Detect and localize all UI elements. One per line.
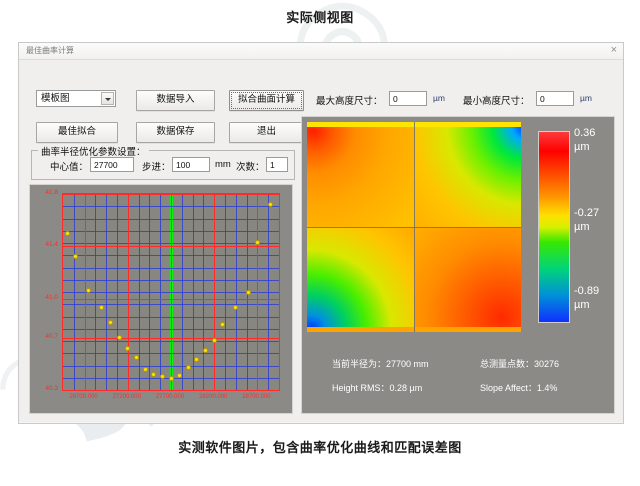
center-value-input[interactable]: 27700: [90, 157, 134, 172]
chart-gridline-major: [63, 299, 279, 300]
app-window: 最佳曲率计算 × 模板图 数据导入 拟合曲面计算 最佳拟合 数据保存 退出 最大…: [18, 42, 624, 424]
colorbar-min-unit: µm: [574, 299, 590, 311]
chart-gridline-major: [63, 246, 279, 247]
count-label: 次数：: [236, 159, 265, 173]
heatmap-quadrant-top-right: [414, 122, 521, 227]
chart-y-tick-label: 40.7: [32, 333, 58, 340]
min-height-unit: µm: [580, 93, 592, 103]
chart-data-point: [233, 305, 238, 310]
step-unit: mm: [215, 159, 231, 170]
chevron-down-icon[interactable]: [101, 92, 114, 105]
status-total-points: 总测量点数：30276: [480, 357, 559, 370]
chart-gridline-major: [171, 194, 172, 390]
chart-x-tick-label: 28700.000: [233, 394, 279, 400]
step-input[interactable]: 100: [172, 157, 210, 172]
fit-error-heatmap-panel: 0.36 µm -0.27 µm -0.89 µm 当前半径为：27700 mm…: [301, 116, 615, 414]
chart-gridline-major: [128, 194, 129, 390]
chart-x-tick-label: 26700.000: [61, 394, 107, 400]
fit-surface-calc-button[interactable]: 拟合曲面计算: [229, 90, 304, 111]
min-height-input[interactable]: 0: [536, 91, 574, 106]
colorbar-min-value: -0.89: [574, 285, 599, 297]
heatmap-quadrant-bottom-left: [307, 227, 414, 332]
chart-y-tick-label: 41.4: [32, 241, 58, 248]
import-data-button[interactable]: 数据导入: [136, 90, 215, 111]
window-title: 最佳曲率计算: [26, 45, 74, 56]
window-client-area: 模板图 数据导入 拟合曲面计算 最佳拟合 数据保存 退出 最大高度尺寸： 0 µ…: [19, 60, 623, 422]
max-height-unit: µm: [433, 93, 445, 103]
chart-data-point: [117, 335, 122, 340]
chart-data-point: [169, 376, 174, 381]
heatmap-crosshair-horizontal: [307, 227, 521, 228]
colorbar: [538, 131, 570, 323]
chart-x-tick-label: 27700.000: [147, 394, 193, 400]
colorbar-mid-unit: µm: [574, 221, 590, 233]
chart-x-tick-label: 27200.000: [104, 394, 150, 400]
page-caption: 实测软件图片，包含曲率优化曲线和匹配误差图: [0, 437, 640, 456]
curvature-optimization-chart: 41.841.441.040.740.3 26700.00027200.0002…: [29, 184, 293, 414]
chart-y-tick-label: 41.0: [32, 294, 58, 301]
exit-button[interactable]: 退出: [229, 122, 304, 143]
template-select-value: 模板图: [41, 93, 70, 104]
chart-data-point: [186, 365, 191, 370]
page-title: 实际侧视图: [0, 7, 640, 26]
chart-data-point: [65, 231, 70, 236]
status-current-radius: 当前半径为：27700 mm: [332, 357, 429, 370]
chart-data-point: [255, 240, 260, 245]
chart-data-point: [268, 202, 273, 207]
save-data-button[interactable]: 数据保存: [136, 122, 215, 143]
colorbar-max-unit: µm: [574, 141, 590, 153]
window-titlebar: 最佳曲率计算 ×: [19, 43, 623, 60]
chart-gridline-major: [63, 194, 279, 195]
chart-data-point: [134, 355, 139, 360]
chart-data-point: [73, 254, 78, 259]
heatmap-quadrant-top-left: [307, 122, 414, 227]
chart-plot-area: [62, 193, 280, 391]
template-select[interactable]: 模板图: [36, 90, 116, 107]
chart-gridline-major: [214, 194, 215, 390]
close-icon[interactable]: ×: [611, 44, 617, 56]
chart-data-point: [125, 346, 130, 351]
heatmap-canvas: [307, 122, 521, 332]
min-height-label: 最小高度尺寸：: [463, 93, 530, 107]
chart-gridline-major: [63, 338, 279, 339]
optimization-group: 曲率半径优化参数设置： 中心值： 27700 步进： 100 mm 次数： 1: [31, 150, 295, 180]
chart-y-tick-label: 40.3: [32, 385, 58, 392]
chart-data-point: [143, 367, 148, 372]
heatmap-quadrant-bottom-right: [414, 227, 521, 332]
best-fit-button[interactable]: 最佳拟合: [36, 122, 118, 143]
chart-data-point: [246, 290, 251, 295]
max-height-input[interactable]: 0: [389, 91, 427, 106]
colorbar-mid-value: -0.27: [574, 207, 599, 219]
chart-data-point: [151, 372, 156, 377]
center-value-label: 中心值：: [50, 159, 88, 173]
status-slope-affect: Slope Affect：1.4%: [480, 381, 557, 394]
chart-gridline-major: [257, 194, 258, 390]
max-height-label: 最大高度尺寸：: [316, 93, 383, 107]
chart-data-point: [212, 338, 217, 343]
colorbar-max-value: 0.36: [574, 127, 595, 139]
status-height-rms: Height RMS：0.28 µm: [332, 381, 422, 394]
chart-x-tick-label: 28200.000: [190, 394, 236, 400]
chart-data-point: [194, 357, 199, 362]
chart-data-point: [99, 305, 104, 310]
optimization-group-title: 曲率半径优化参数设置：: [38, 144, 149, 158]
count-input[interactable]: 1: [266, 157, 288, 172]
chart-data-point: [108, 320, 113, 325]
chart-y-tick-label: 41.8: [32, 189, 58, 196]
chart-gridline-major: [63, 390, 279, 391]
step-label: 步进：: [142, 159, 171, 173]
